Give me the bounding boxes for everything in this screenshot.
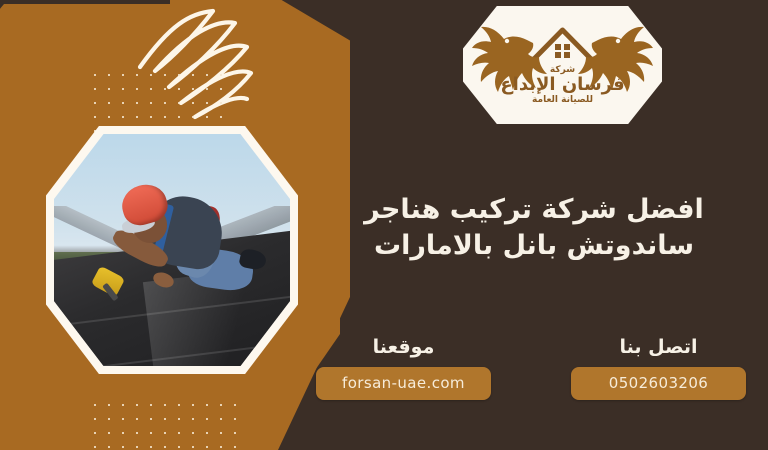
contact-section: اتصل بنا 0502603206 موقعنا forsan-uae.co…: [316, 336, 746, 400]
logo-line-2: فرسان الإبداع: [463, 76, 662, 94]
logo-line-3: للصيانة العامة: [463, 96, 662, 105]
contact-website-button[interactable]: forsan-uae.com: [316, 367, 491, 400]
contact-website-block: موقعنا forsan-uae.com: [316, 336, 491, 400]
dot-grid-bottom: [88, 398, 238, 450]
contact-website-label: موقعنا: [316, 336, 491, 358]
house-roof-icon: [533, 30, 592, 60]
contact-phone-label: اتصل بنا: [571, 336, 746, 358]
contact-phone-block: اتصل بنا 0502603206: [571, 336, 746, 400]
worker-solar-panel-photo: [54, 134, 290, 366]
company-logo-badge[interactable]: شركة فرسان الإبداع للصيانة العامة: [463, 6, 662, 124]
promo-banner: شركة فرسان الإبداع للصيانة العامة افضل ش…: [0, 0, 768, 450]
contact-phone-button[interactable]: 0502603206: [571, 367, 746, 400]
photo-frame: [46, 126, 298, 374]
page-title: افضل شركة تركيب هناجر ساندوتش بانل بالام…: [324, 192, 744, 263]
